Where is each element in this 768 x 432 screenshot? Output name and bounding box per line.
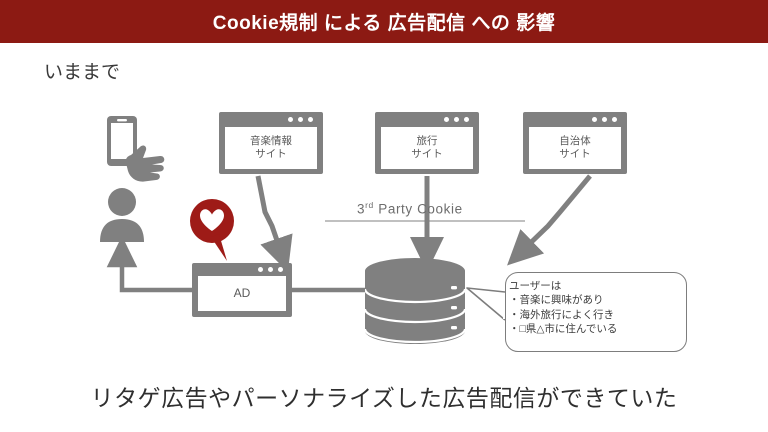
site-label-line1: 自治体 bbox=[559, 135, 591, 148]
window-dots-icon bbox=[444, 117, 469, 122]
callout-line-3: ・□県△市に住んでいる bbox=[509, 322, 685, 336]
site-label-line2: サイト bbox=[559, 148, 591, 161]
ad-label: AD bbox=[198, 276, 286, 311]
user-profile-callout-text: ユーザーは ・音楽に興味があり ・海外旅行によく行き ・□県△市に住んでいる bbox=[509, 279, 685, 337]
callout-tail bbox=[467, 288, 505, 320]
arrow-gov-to-db bbox=[520, 176, 590, 253]
site-label-line1: 音楽情報 bbox=[250, 135, 292, 148]
site-box-music[interactable]: 音楽情報 サイト bbox=[219, 112, 323, 174]
window-dots-icon bbox=[592, 117, 617, 122]
site-screen: 旅行 サイト bbox=[381, 127, 473, 169]
person-icon bbox=[100, 188, 144, 242]
third-party-cookie-label: 3rd Party Cookie bbox=[357, 200, 463, 217]
database-cylinder-icon bbox=[365, 258, 465, 344]
site-label-line2: サイト bbox=[255, 148, 287, 161]
site-box-travel[interactable]: 旅行 サイト bbox=[375, 112, 479, 174]
site-label-line1: 旅行 bbox=[417, 135, 438, 148]
ad-box[interactable]: AD bbox=[192, 263, 292, 317]
callout-line-1: ・音楽に興味があり bbox=[509, 293, 685, 307]
cookie-label-prefix: 3 bbox=[357, 202, 365, 217]
window-dots-icon bbox=[288, 117, 313, 122]
heart-speech-bubble-icon bbox=[190, 199, 234, 261]
cookie-label-suffix: Party Cookie bbox=[374, 202, 463, 217]
site-screen: 自治体 サイト bbox=[529, 127, 621, 169]
arrow-music-to-db bbox=[258, 176, 282, 255]
cookie-label-sup: rd bbox=[365, 200, 374, 210]
site-box-municipality[interactable]: 自治体 サイト bbox=[523, 112, 627, 174]
arrow-ad-to-person bbox=[122, 252, 192, 290]
summary-caption: リタゲ広告やパーソナライズした広告配信ができていた bbox=[0, 379, 768, 413]
site-label-line2: サイト bbox=[411, 148, 443, 161]
slide-root: Cookie規制 による 広告配信 への 影響 いままで bbox=[0, 0, 768, 432]
callout-line-0: ユーザーは bbox=[509, 279, 685, 293]
site-screen: 音楽情報 サイト bbox=[225, 127, 317, 169]
callout-line-2: ・海外旅行によく行き bbox=[509, 308, 685, 322]
window-dots-icon bbox=[258, 267, 283, 272]
